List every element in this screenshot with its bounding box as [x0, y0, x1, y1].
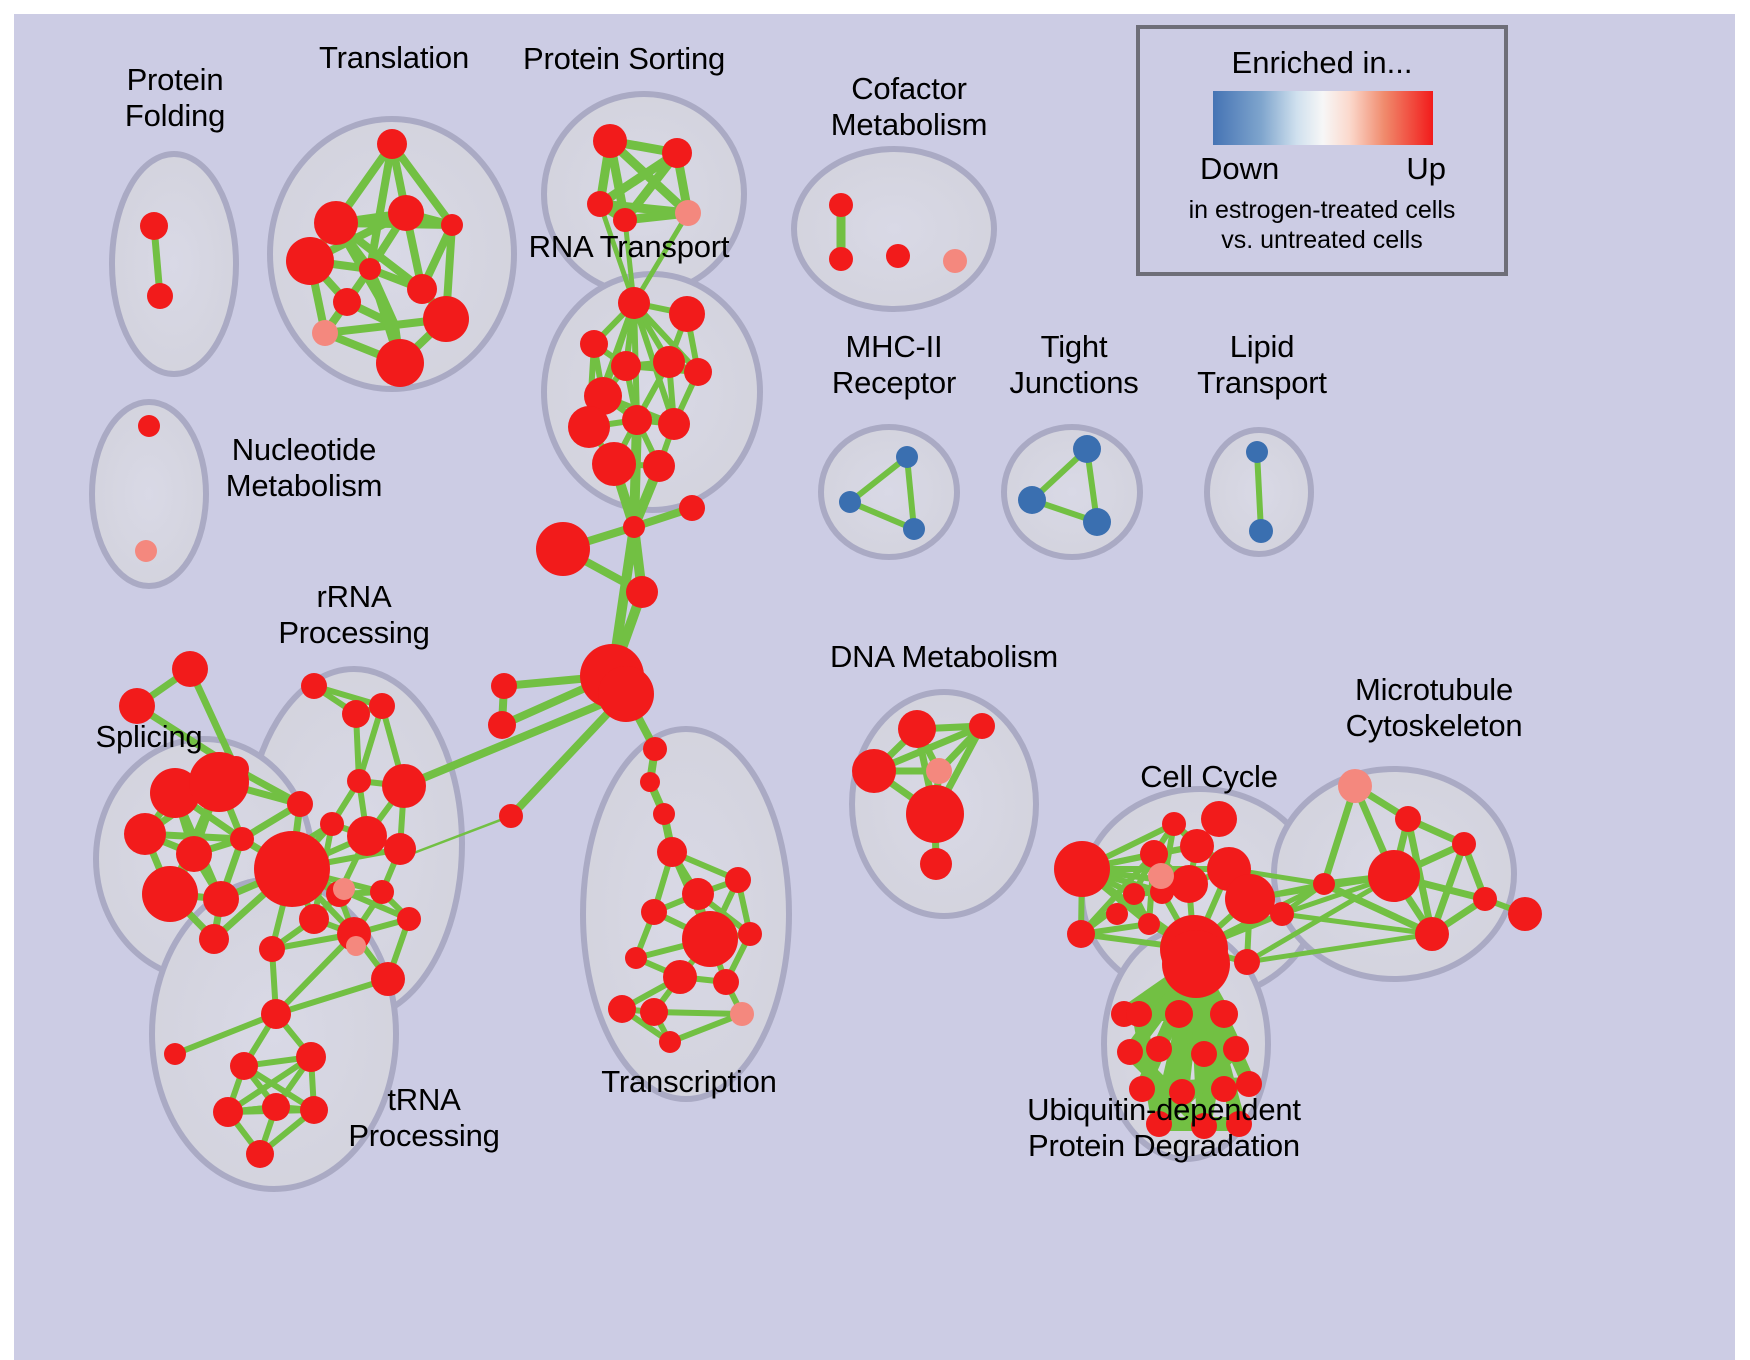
cluster-label-transcription: Transcription [564, 1064, 814, 1100]
cluster-label-splicing: Splicing [54, 719, 244, 755]
cluster-label-dna-metabolism: DNA Metabolism [804, 639, 1084, 675]
legend-title: Enriched in... [1140, 45, 1504, 81]
cluster-label-trna-processing: tRNA Processing [314, 1082, 534, 1154]
cluster-label-protein-folding: Protein Folding [80, 62, 270, 134]
cluster-label-translation: Translation [279, 40, 509, 76]
legend-low-label: Down [1200, 151, 1279, 187]
cluster-label-tight-junctions: Tight Junctions [974, 329, 1174, 401]
legend-subtitle: in estrogen-treated cells vs. untreated … [1140, 195, 1504, 255]
cluster-label-lipid-transport: Lipid Transport [1162, 329, 1362, 401]
cluster-label-mhc-ii-receptor: MHC-II Receptor [794, 329, 994, 401]
cluster-label-cofactor-metabolism: Cofactor Metabolism [794, 71, 1024, 143]
network-canvas: Protein Folding Translation Protein Sort… [14, 14, 1735, 1360]
legend-color-gradient-bar [1213, 91, 1433, 145]
cluster-label-protein-sorting: Protein Sorting [494, 41, 754, 77]
hull-cofactor [794, 149, 994, 309]
legend-box: Enriched in... Down Up in estrogen-treat… [1136, 25, 1508, 276]
cluster-label-rna-transport: RNA Transport [504, 229, 754, 265]
hull-transcription [583, 729, 789, 1099]
cluster-label-nucleotide-metabolism: Nucleotide Metabolism [189, 432, 419, 504]
hull-protein-folding [112, 154, 236, 374]
hull-mhc [821, 427, 957, 557]
cluster-label-cell-cycle: Cell Cycle [1099, 759, 1319, 795]
cluster-label-rrna-processing: rRNA Processing [244, 579, 464, 651]
cluster-label-microtubule: Microtubule Cytoskeleton [1299, 672, 1569, 744]
cluster-label-ubiquitin: Ubiquitin-dependent Protein Degradation [974, 1092, 1354, 1164]
legend-high-label: Up [1406, 151, 1446, 187]
